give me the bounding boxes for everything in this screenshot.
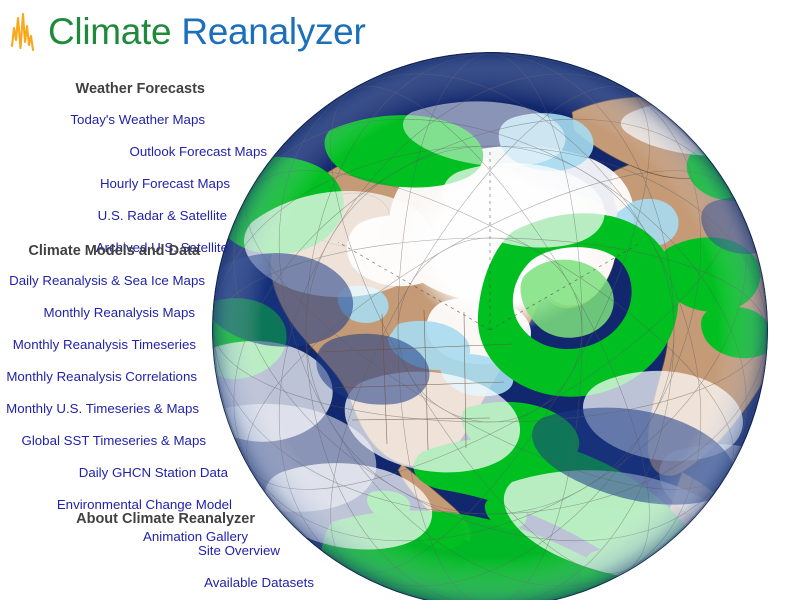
nav-link-monthly-reanalysis-correlations[interactable]: Monthly Reanalysis Correlations <box>6 370 197 383</box>
nav-heading-about-climate-reanalyzer: About Climate Reanalyzer <box>76 512 255 527</box>
nav-link-daily-reanalysis-sea-ice-maps[interactable]: Daily Reanalysis & Sea Ice Maps <box>9 274 205 287</box>
nav-link-us-radar-satellite[interactable]: U.S. Radar & Satellite <box>98 209 227 222</box>
globe-graphic <box>212 52 768 600</box>
site-logo[interactable]: Climate Reanalyzer <box>10 12 365 52</box>
nav-link-site-overview[interactable]: Site Overview <box>198 544 280 557</box>
page-root: Climate Reanalyzer Weather Forecasts Tod… <box>0 0 785 600</box>
nav-heading-weather-forecasts: Weather Forecasts <box>76 82 205 97</box>
site-logo-text: Climate Reanalyzer <box>48 12 365 52</box>
nav-link-animation-gallery[interactable]: Animation Gallery <box>143 530 248 543</box>
nav-heading-climate-models-and-data: Climate Models and Data <box>28 244 200 259</box>
nav-link-outlook-forecast-maps[interactable]: Outlook Forecast Maps <box>130 145 267 158</box>
nav-link-monthly-us-timeseries-maps[interactable]: Monthly U.S. Timeseries & Maps <box>6 402 199 415</box>
globe-hero-image <box>212 52 768 600</box>
nav-link-monthly-reanalysis-maps[interactable]: Monthly Reanalysis Maps <box>44 306 196 319</box>
waveform-icon <box>10 12 44 52</box>
nav-link-global-sst-timeseries-maps[interactable]: Global SST Timeseries & Maps <box>21 434 206 447</box>
nav-link-environmental-change-model[interactable]: Environmental Change Model <box>57 498 232 511</box>
nav-link-todays-weather-maps[interactable]: Today's Weather Maps <box>70 113 205 126</box>
nav-link-daily-ghcn-station-data[interactable]: Daily GHCN Station Data <box>79 466 228 479</box>
nav-link-monthly-reanalysis-timeseries[interactable]: Monthly Reanalysis Timeseries <box>13 338 196 351</box>
nav-link-available-datasets[interactable]: Available Datasets <box>204 576 314 589</box>
nav-link-hourly-forecast-maps[interactable]: Hourly Forecast Maps <box>100 177 230 190</box>
logo-word-climate: Climate <box>48 11 171 52</box>
logo-word-reanalyzer: Reanalyzer <box>181 11 365 52</box>
